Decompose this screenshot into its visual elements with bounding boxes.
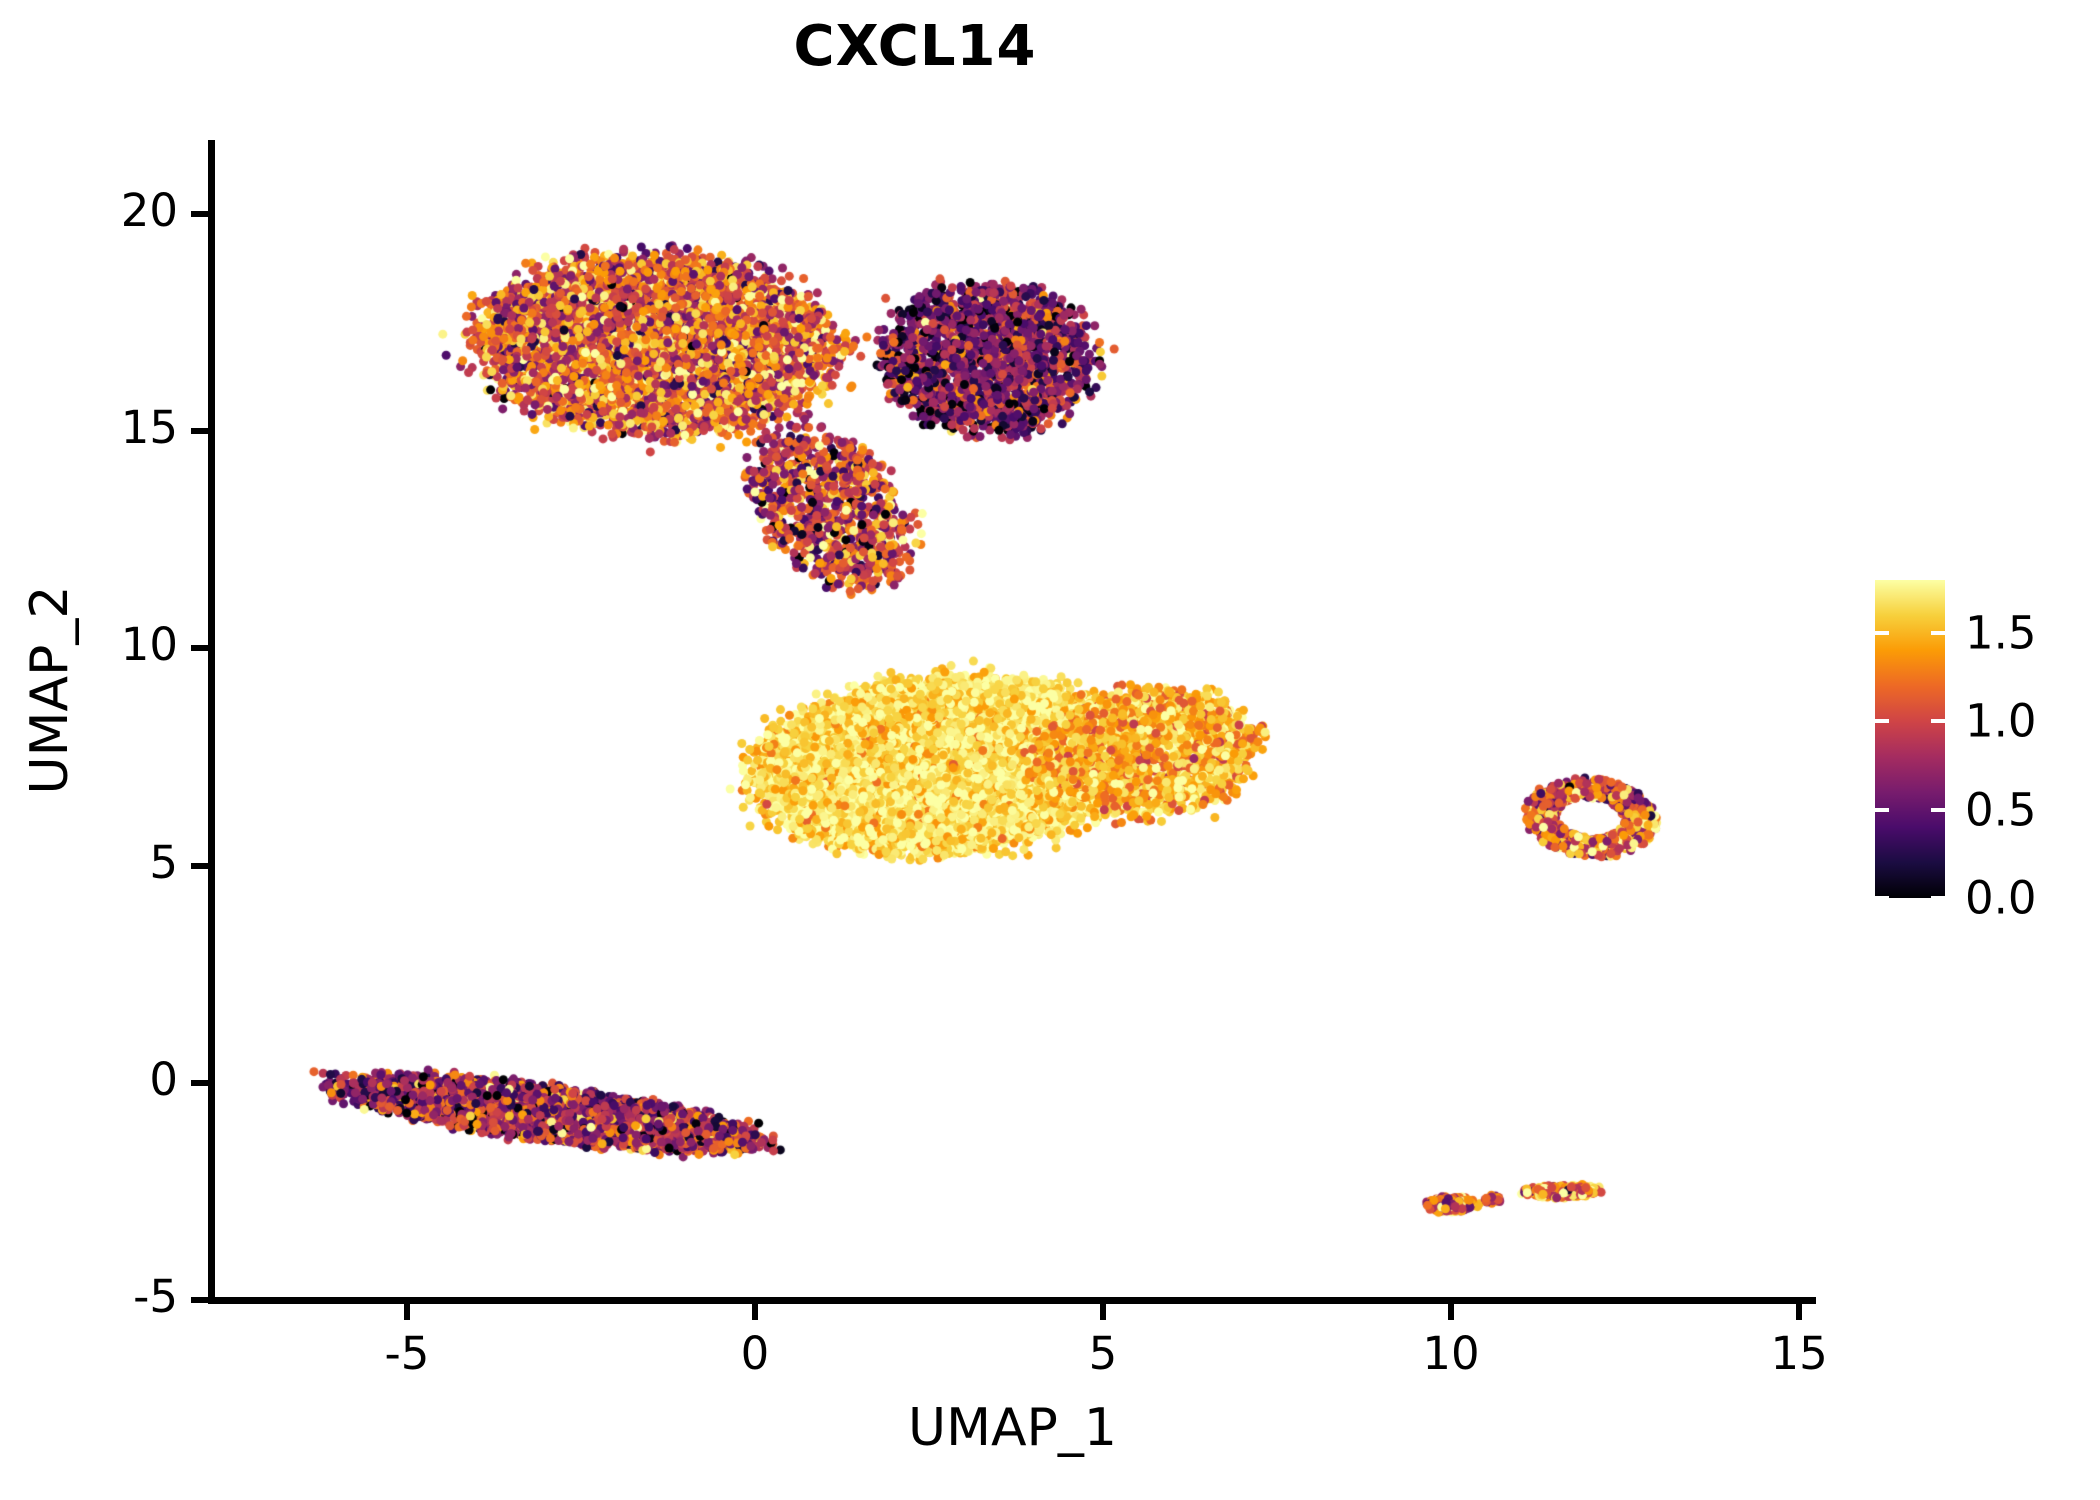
y-axis-spine xyxy=(208,140,215,1303)
colorbar-tick-mark xyxy=(1875,719,1889,723)
x-axis-spine xyxy=(208,1297,1816,1304)
colorbar-tick-label: 1.0 xyxy=(1965,695,2037,748)
colorbar-tick-mark xyxy=(1875,808,1889,812)
umap-feature-plot: CXCL14 -505101520-5051015 UMAP_1 UMAP_2 … xyxy=(0,0,2100,1500)
y-tick-mark xyxy=(191,1080,208,1086)
y-tick-mark xyxy=(191,1297,208,1303)
x-tick-mark xyxy=(752,1303,758,1320)
y-tick-mark xyxy=(191,211,208,217)
y-tick-label: 0 xyxy=(0,1053,178,1106)
scatter-plot-canvas xyxy=(212,140,1813,1300)
colorbar-tick-label: 1.5 xyxy=(1965,607,2037,660)
x-tick-mark xyxy=(1796,1303,1802,1320)
page-title: CXCL14 xyxy=(0,14,1830,79)
x-tick-label: 5 xyxy=(1089,1327,1118,1380)
y-tick-label: 20 xyxy=(0,184,178,237)
y-tick-mark xyxy=(191,645,208,651)
y-axis-label: UMAP_2 xyxy=(20,340,80,1040)
y-tick-mark xyxy=(191,863,208,869)
colorbar xyxy=(1875,580,1945,898)
x-tick-mark xyxy=(404,1303,410,1320)
x-axis-label: UMAP_1 xyxy=(212,1398,1813,1458)
colorbar-tick-label: 0.0 xyxy=(1965,872,2037,925)
x-tick-label: 10 xyxy=(1422,1327,1479,1380)
y-tick-label: -5 xyxy=(0,1270,178,1323)
x-tick-label: 0 xyxy=(741,1327,770,1380)
x-tick-label: -5 xyxy=(384,1327,429,1380)
colorbar-tick-mark xyxy=(1875,631,1889,635)
colorbar-tick-mark xyxy=(1931,719,1945,723)
colorbar-tick-mark xyxy=(1931,808,1945,812)
colorbar-tick-mark xyxy=(1931,631,1945,635)
colorbar-tick-mark xyxy=(1931,896,1945,900)
x-tick-label: 15 xyxy=(1770,1327,1827,1380)
y-tick-mark xyxy=(191,428,208,434)
colorbar-gradient xyxy=(1875,580,1945,898)
x-tick-mark xyxy=(1448,1303,1454,1320)
colorbar-tick-mark xyxy=(1875,896,1889,900)
x-tick-mark xyxy=(1100,1303,1106,1320)
colorbar-tick-label: 0.5 xyxy=(1965,783,2037,836)
